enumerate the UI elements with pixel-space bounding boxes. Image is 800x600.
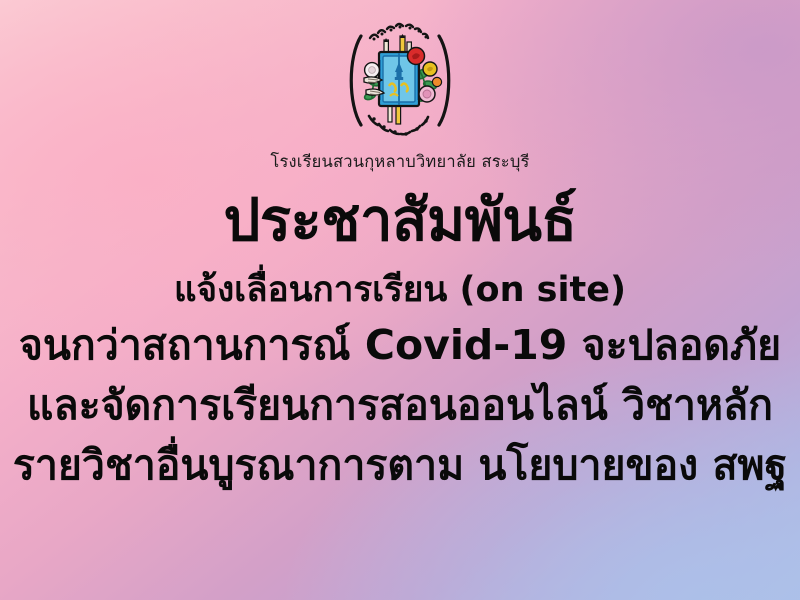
school-emblem-graphic — [344, 12, 456, 148]
announcement-line-4: รายวิชาอื่นบูรณาการตาม นโยบายของ สพฐ — [0, 436, 800, 496]
announcement-line-1: แจ้งเลื่อนการเรียน (on site) — [0, 265, 800, 316]
announcement-line-3: และจัดการเรียนการสอนออนไลน์ วิชาหลัก — [0, 376, 800, 436]
announcement-line-2: จนกว่าสถานการณ์ Covid-19 จะปลอดภัย — [0, 316, 800, 376]
announcement-body: แจ้งเลื่อนการเรียน (on site) จนกว่าสถานก… — [0, 265, 800, 496]
page-title: ประชาสัมพันธ์ — [224, 190, 577, 251]
announcement-poster: โรงเรียนสวนกุหลาบวิทยาลัย สระบุรี ประชาส… — [0, 0, 800, 600]
school-emblem — [344, 12, 456, 148]
school-name: โรงเรียนสวนกุหลาบวิทยาลัย สระบุรี — [270, 152, 529, 172]
